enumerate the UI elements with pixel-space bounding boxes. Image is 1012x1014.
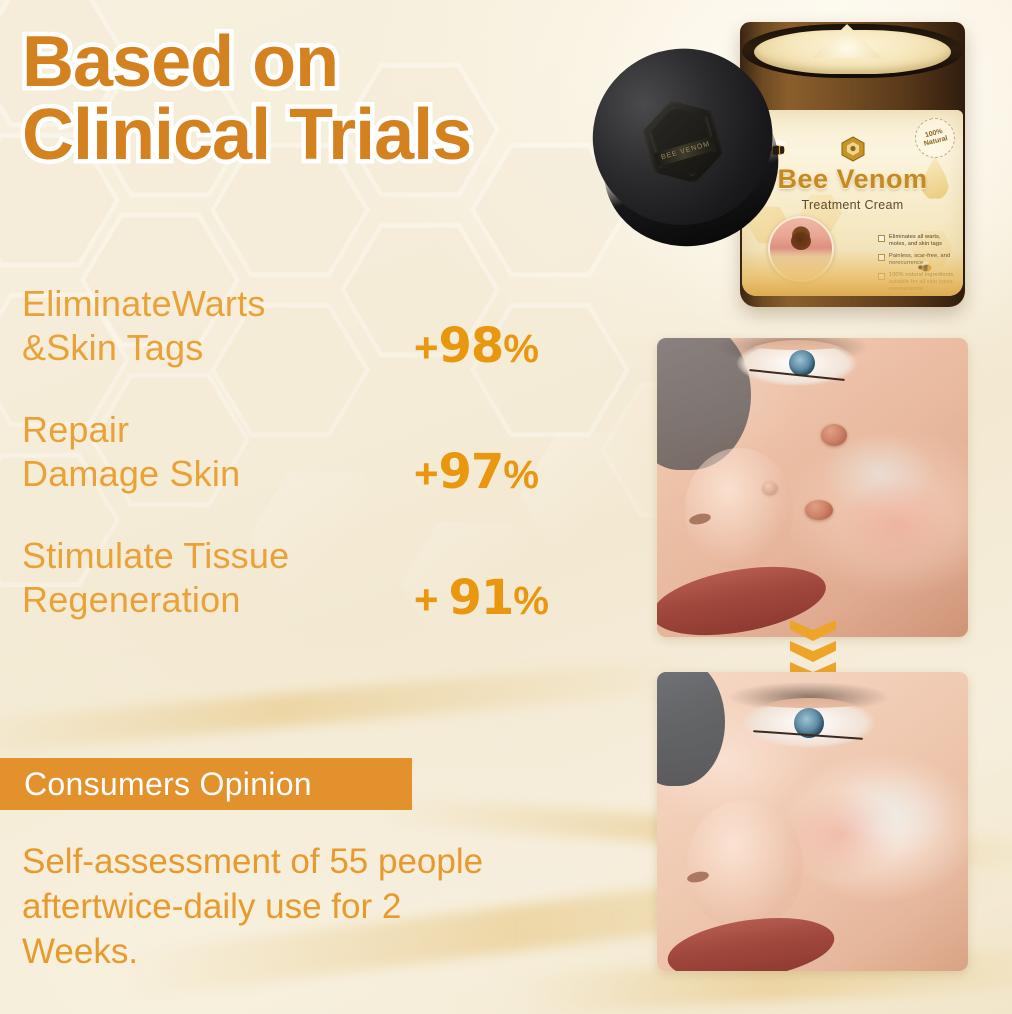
eyelid	[737, 340, 857, 350]
eyelid	[743, 698, 875, 708]
benefit-label-line-2: Damage Skin	[22, 453, 240, 494]
benefit-percent: +98%	[414, 318, 539, 374]
benefit-value: 97	[439, 444, 504, 500]
blush	[781, 788, 901, 880]
benefit-row: EliminateWarts &Skin Tags +98%	[22, 282, 622, 370]
benefit-label-line-1: Repair	[22, 409, 129, 450]
headline-line-2: Clinical Trials	[22, 101, 622, 170]
benefit-label: Repair Damage Skin	[22, 408, 382, 496]
percent-sign: %	[513, 579, 549, 623]
benefit-label: Stimulate Tissue Regeneration	[22, 534, 382, 622]
consumers-opinion-body: Self-assessment of 55 people aftertwice-…	[22, 840, 582, 974]
iris	[789, 350, 815, 376]
chevron-down-icon	[790, 620, 836, 641]
chevron-down-icon	[790, 641, 836, 662]
page-title: Based on Clinical Trials	[22, 28, 622, 170]
nose	[685, 448, 793, 568]
product-jar-image: 100% Natural Bee Venom	[590, 12, 1000, 322]
benefit-plus-sign: +	[414, 324, 439, 371]
wart-lesion	[821, 424, 847, 446]
benefit-label-line-1: Stimulate Tissue	[22, 535, 289, 576]
percent-sign: %	[503, 453, 539, 497]
consumers-opinion-banner: Consumers Opinion	[0, 758, 412, 810]
benefit-label: EliminateWarts &Skin Tags	[22, 282, 382, 370]
before-photo	[657, 338, 968, 637]
consumers-body-line-3: Weeks.	[22, 932, 138, 971]
natural-seal-text: 100% Natural	[923, 128, 948, 148]
benefit-list: EliminateWarts &Skin Tags +98% Repair Da…	[22, 282, 622, 659]
consumers-body-line-2: aftertwice-daily use for 2	[22, 887, 401, 926]
benefit-percent: +91%	[414, 570, 549, 626]
percent-sign: %	[503, 327, 539, 371]
consumers-opinion-label: Consumers Opinion	[0, 758, 412, 803]
brand-crest-icon	[840, 136, 866, 162]
eye	[743, 698, 875, 748]
benefit-row: Stimulate Tissue Regeneration +91%	[22, 534, 622, 622]
wart-lesion	[805, 500, 833, 520]
benefit-row: Repair Damage Skin +97%	[22, 408, 622, 496]
consumers-body-line-1: Self-assessment of 55 people	[22, 842, 483, 881]
honey-wave-graphic	[742, 250, 963, 296]
benefit-plus-sign: +	[414, 450, 439, 497]
benefit-label-line-1: EliminateWarts	[22, 283, 266, 324]
benefit-label-line-2: Regeneration	[22, 579, 241, 620]
jar-cream-content	[754, 30, 951, 74]
after-photo	[657, 672, 968, 971]
product-bullet: Eliminates all warts, moles, and skin ta…	[878, 234, 957, 248]
mole-lesion	[763, 482, 777, 494]
benefit-value: 91	[449, 570, 514, 626]
benefit-percent: +97%	[414, 444, 539, 500]
benefit-value: 98	[439, 318, 504, 374]
benefit-label-line-2: &Skin Tags	[22, 327, 203, 368]
promo-graphic: Based on Clinical Trials EliminateWarts …	[0, 0, 1012, 1014]
headline-line-1: Based on	[22, 22, 338, 102]
natural-seal-badge: 100% Natural	[911, 114, 959, 162]
benefit-plus-sign: +	[414, 576, 439, 623]
blush	[837, 478, 957, 568]
